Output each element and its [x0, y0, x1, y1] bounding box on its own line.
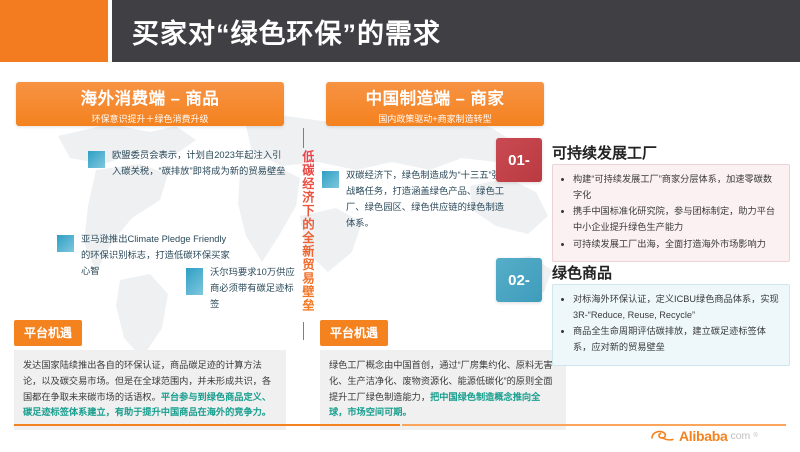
divider-line-bottom — [303, 322, 304, 340]
section-number-badge: 01- — [496, 138, 542, 182]
vertical-label: 低碳经济下的全新贸易壁垒 — [294, 150, 314, 312]
list-item: 构建“可持续发展工厂”商家分层体系，加速零碳数字化 — [573, 172, 781, 203]
slide-header: 买家对“绿色环保”的需求 — [0, 0, 800, 62]
callout-text: 欧盟委员会表示，计划自2023年起注入引入碳关税，“碳排放”即将成为新的贸易壁垒 — [112, 148, 288, 180]
section-pill-china-manufacturing: 中国制造端 – 商家 国内政策驱动+商家制造转型 — [326, 82, 544, 126]
pill-title: 海外消费端 – 商品 — [16, 82, 284, 108]
note-tag: 平台机遇 — [320, 320, 388, 346]
section-bullet-box: 对标海外环保认证，定义ICBU绿色商品体系，实现3R-“Reduce, Reus… — [552, 284, 790, 366]
pill-subtitle: 环保意识提升＋绿色消费升级 — [16, 108, 284, 124]
callout-eu-carbon-tax: 欧盟委员会表示，计划自2023年起注入引入碳关税，“碳排放”即将成为新的贸易壁垒 — [88, 148, 288, 180]
callout-walmart-carbon-label: 沃尔玛要求10万供应商必须带有碳足迹标签 — [186, 265, 296, 313]
pill-subtitle: 国内政策驱动+商家制造转型 — [326, 108, 544, 124]
list-item: 可持续发展工厂出海，全面打造海外市场影响力 — [573, 237, 781, 253]
bullet-square-icon — [88, 151, 105, 168]
list-item: 商品全生命周期评估碳排放，建立碳足迹标签体系，应对新的贸易壁垒 — [573, 324, 781, 355]
footer-rule-right — [402, 424, 786, 426]
note-body: 绿色工厂概念由中国首创，通过“厂房集约化、原料无害化、生产洁净化、废物资源化、能… — [320, 350, 566, 430]
bullet-square-icon — [186, 268, 203, 295]
footer-rule-left — [14, 424, 400, 426]
logo-trademark: ® — [753, 433, 757, 439]
alibaba-logo: Alibaba com ® — [650, 428, 758, 444]
note-platform-opportunity-mid: 平台机遇 绿色工厂概念由中国首创，通过“厂房集约化、原料无害化、生产洁净化、废物… — [320, 320, 566, 430]
callout-dual-carbon-strategy: 双碳经济下，绿色制造成为“十三五”强国战略任务，打造涵盖绿色产品、绿色工厂、绿色… — [322, 168, 512, 232]
callout-text: 沃尔玛要求10万供应商必须带有碳足迹标签 — [210, 265, 296, 313]
logo-brand-text: Alibaba — [679, 428, 727, 444]
alibaba-swirl-icon — [650, 428, 676, 444]
callout-text: 双碳经济下，绿色制造成为“十三五”强国战略任务，打造涵盖绿色产品、绿色工厂、绿色… — [346, 168, 512, 232]
header-title-bar: 买家对“绿色环保”的需求 — [112, 0, 800, 62]
section-bullet-box: 构建“可持续发展工厂”商家分层体系，加速零碳数字化 携手中国标准化研究院，参与团… — [552, 164, 790, 262]
bullet-square-icon — [322, 171, 339, 188]
section-number-badge: 02- — [496, 258, 542, 302]
section-heading: 绿色商品 — [552, 262, 612, 283]
section-heading: 可持续发展工厂 — [552, 142, 657, 163]
list-item: 对标海外环保认证，定义ICBU绿色商品体系，实现3R-“Reduce, Reus… — [573, 292, 781, 323]
list-item: 携手中国标准化研究院，参与团标制定，助力平台中小企业提升绿色生产能力 — [573, 204, 781, 235]
header-accent-block — [0, 0, 108, 62]
section-pill-overseas: 海外消费端 – 商品 环保意识提升＋绿色消费升级 — [16, 82, 284, 126]
page-title: 买家对“绿色环保”的需求 — [132, 12, 441, 51]
note-platform-opportunity-left: 平台机遇 发达国家陆续推出各自的环保认证，商品碳足迹的计算方法论，以及碳交易市场… — [14, 320, 286, 430]
note-body: 发达国家陆续推出各自的环保认证，商品碳足迹的计算方法论，以及碳交易市场。但是在全… — [14, 350, 286, 430]
note-tag: 平台机遇 — [14, 320, 82, 346]
pill-title: 中国制造端 – 商家 — [326, 82, 544, 108]
divider-line-top — [303, 128, 304, 148]
logo-suffix-text: com — [730, 430, 750, 442]
bullet-square-icon — [57, 235, 74, 252]
slide: 买家对“绿色环保”的需求 海外消费端 – 商品 环保意识提升＋绿色消费升级 中国… — [0, 0, 800, 452]
